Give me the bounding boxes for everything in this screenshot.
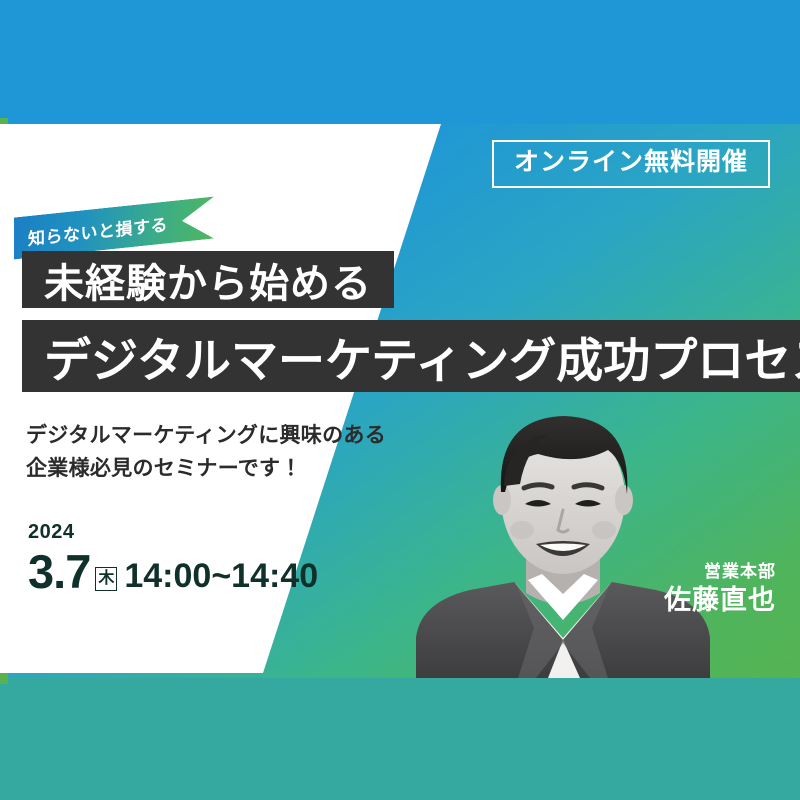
speaker-department: 営業本部 [664, 562, 776, 582]
subtitle-line-2: 企業様必見のセミナーです！ [26, 453, 386, 486]
subtitle-line-1: デジタルマーケティングに興味のある [26, 420, 386, 453]
subtitle: デジタルマーケティングに興味のある 企業様必見のセミナーです！ [26, 420, 386, 485]
event-date-line: 3.7 木 14:00~14:40 [28, 548, 318, 595]
online-free-badge: オンライン無料開催 [492, 140, 770, 188]
event-time: 14:00~14:40 [124, 559, 318, 593]
speaker-caption: 営業本部 佐藤直也 [664, 562, 776, 618]
event-weekday: 木 [95, 567, 117, 591]
seminar-banner: オンライン無料開催 知らないと損する 未経験から始める デジタルマーケティング成… [0, 0, 800, 800]
headline-line-1: 未経験から始める [22, 251, 394, 308]
event-date-block: 2024 3.7 木 14:00~14:40 [28, 522, 318, 595]
speaker-photo [398, 388, 728, 678]
speaker-name: 佐藤直也 [664, 584, 776, 618]
ribbon-label: 知らないと損する [28, 210, 168, 250]
event-year: 2024 [28, 522, 318, 542]
headline-line-2: デジタルマーケティング成功プロセス [22, 320, 800, 392]
top-color-band [0, 0, 800, 124]
bottom-color-band [0, 678, 800, 800]
event-day: 3.7 [28, 548, 90, 595]
